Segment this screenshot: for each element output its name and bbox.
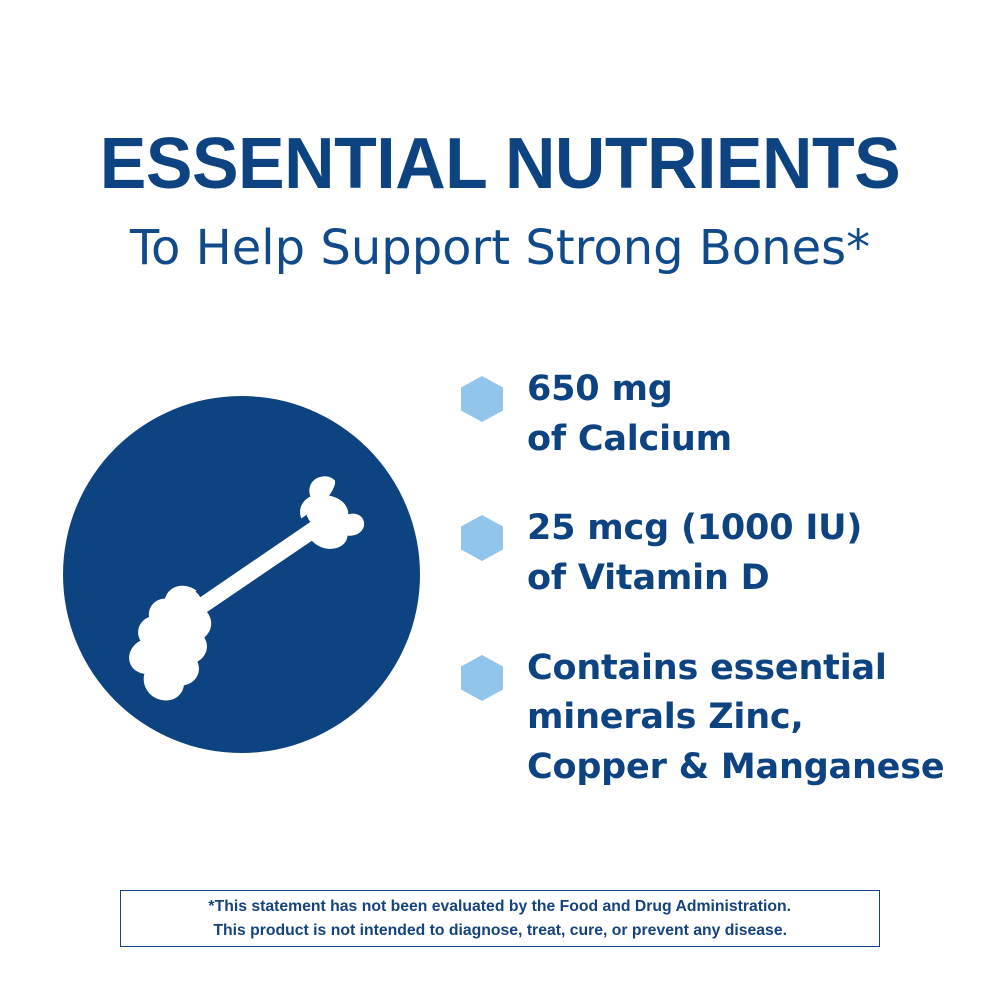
benefit-text: Contains essential minerals Zinc, Copper… [459, 644, 979, 793]
benefits-list: 650 mg of Calcium 25 mcg (1000 IU) of Vi… [459, 365, 979, 793]
disclaimer-line-2: This product is not intended to diagnose… [213, 919, 787, 942]
disclaimer-box: *This statement has not been evaluated b… [120, 890, 880, 947]
page-subtitle: To Help Support Strong Bones* [0, 200, 1000, 272]
benefit-text: 650 mg of Calcium [459, 365, 979, 464]
page-title: ESSENTIAL NUTRIENTS [15, 128, 985, 200]
bone-medallion [63, 396, 420, 753]
disclaimer-line-1: *This statement has not been evaluated b… [209, 895, 792, 918]
hexagon-bullet-icon [461, 515, 503, 561]
bone-icon [63, 396, 420, 753]
header-block: ESSENTIAL NUTRIENTS To Help Support Stro… [0, 128, 1000, 272]
benefit-item-calcium: 650 mg of Calcium [459, 365, 979, 464]
hexagon-bullet-icon [461, 376, 503, 422]
benefit-text: 25 mcg (1000 IU) of Vitamin D [459, 504, 979, 603]
benefit-item-minerals: Contains essential minerals Zinc, Copper… [459, 644, 979, 793]
benefit-item-vitamin-d: 25 mcg (1000 IU) of Vitamin D [459, 504, 979, 603]
hexagon-bullet-icon [461, 655, 503, 701]
infographic-page: ESSENTIAL NUTRIENTS To Help Support Stro… [0, 0, 1000, 1000]
